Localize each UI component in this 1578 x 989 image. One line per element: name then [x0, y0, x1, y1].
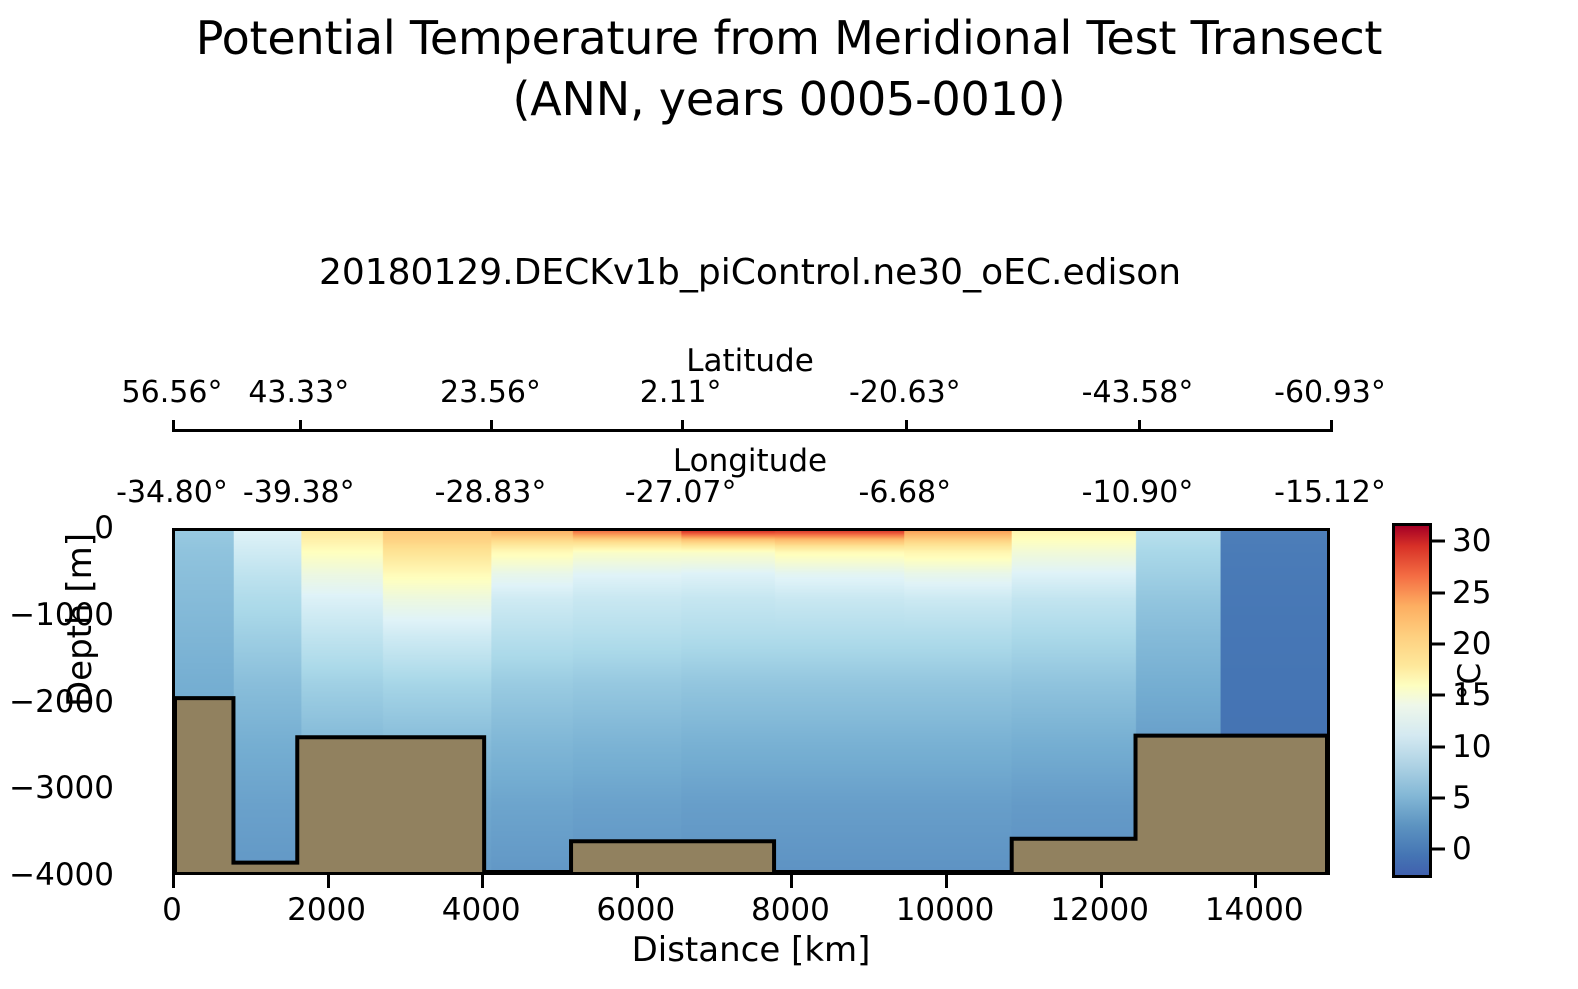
x-tick-mark [172, 875, 175, 888]
suptitle-line-1: Potential Temperature from Meridional Te… [0, 8, 1578, 69]
latitude-tick-mark [172, 420, 175, 432]
latitude-tick-mark [681, 420, 684, 432]
colorbar-tick-label: 30 [1452, 523, 1491, 559]
latitude-tick-label: 43.33° [248, 375, 349, 410]
longitude-tick-label: -28.83° [435, 475, 547, 510]
figure-suptitle: Potential Temperature from Meridional Te… [0, 8, 1578, 129]
latitude-axis-label: Latitude [0, 343, 1500, 379]
y-tick-label: −4000 [9, 857, 114, 893]
longitude-tick-label: -15.12° [1274, 475, 1386, 510]
axes-title: 20180129.DECKv1b_piControl.ne30_oEC.edis… [0, 252, 1500, 293]
longitude-tick-label: -39.38° [243, 475, 355, 510]
latitude-tick-mark [1330, 420, 1333, 432]
figure-canvas: Potential Temperature from Meridional Te… [0, 0, 1578, 989]
x-tick-label: 0 [162, 892, 182, 928]
y-tick-label: −2000 [9, 684, 114, 720]
y-axis-ticks: 0−1000−2000−3000−4000 [0, 0, 172, 989]
colorbar-tick-label: 5 [1452, 780, 1472, 816]
colorbar-title: °C [1452, 610, 1488, 700]
latitude-tick-label: 2.11° [640, 375, 722, 410]
colorbar-tick-mark [1432, 745, 1445, 748]
x-tick-label: 4000 [442, 892, 521, 928]
colorbar [1392, 523, 1432, 878]
x-tick-label: 2000 [287, 892, 366, 928]
x-tick-mark [945, 875, 948, 888]
latitude-tick-label: -60.93° [1274, 375, 1386, 410]
suptitle-line-2: (ANN, years 0005-0010) [0, 69, 1578, 130]
colorbar-tick-mark [1432, 694, 1445, 697]
colorbar-tick-label: 0 [1452, 831, 1472, 867]
x-tick-label: 12000 [1050, 892, 1149, 928]
x-axis-label: Distance [km] [172, 930, 1330, 970]
x-tick-label: 6000 [596, 892, 675, 928]
y-tick-label: −1000 [9, 597, 114, 633]
x-tick-mark [790, 875, 793, 888]
x-tick-mark [1254, 875, 1257, 888]
colorbar-tick-mark [1432, 540, 1445, 543]
y-tick-label: −3000 [9, 770, 114, 806]
longitude-tick-labels: -34.80°-39.38°-28.83°-27.07°-6.68°-10.90… [0, 475, 1578, 509]
latitude-tick-label: -20.63° [849, 375, 961, 410]
x-tick-label: 10000 [896, 892, 995, 928]
latitude-tick-mark [490, 420, 493, 432]
colorbar-tick-label: 25 [1452, 575, 1491, 611]
latitude-tick-mark [905, 420, 908, 432]
latitude-tick-mark [1138, 420, 1141, 432]
transect-heatmap-plot [172, 528, 1330, 875]
x-tick-label: 8000 [751, 892, 830, 928]
top-axis-spine [172, 429, 1330, 432]
longitude-tick-label: -10.90° [1082, 475, 1194, 510]
latitude-tick-mark [299, 420, 302, 432]
bathymetry-land-mask [175, 531, 1327, 872]
latitude-tick-labels: 56.56°43.33°23.56°2.11°-20.63°-43.58°-60… [0, 375, 1578, 409]
x-tick-mark [327, 875, 330, 888]
x-tick-mark [1100, 875, 1103, 888]
colorbar-tick-mark [1432, 643, 1445, 646]
colorbar-tick-label: 10 [1452, 729, 1491, 765]
longitude-axis-label: Longitude [0, 443, 1500, 479]
y-tick-label: 0 [94, 510, 114, 546]
colorbar-tick-mark [1432, 848, 1445, 851]
x-tick-mark [481, 875, 484, 888]
latitude-tick-label: 23.56° [440, 375, 541, 410]
x-tick-label: 14000 [1205, 892, 1304, 928]
latitude-tick-label: -43.58° [1082, 375, 1194, 410]
x-tick-mark [636, 875, 639, 888]
seafloor-outline [175, 698, 1327, 872]
longitude-tick-label: -6.68° [859, 475, 952, 510]
colorbar-tick-mark [1432, 797, 1445, 800]
colorbar-tick-mark [1432, 591, 1445, 594]
longitude-tick-label: -27.07° [625, 475, 737, 510]
